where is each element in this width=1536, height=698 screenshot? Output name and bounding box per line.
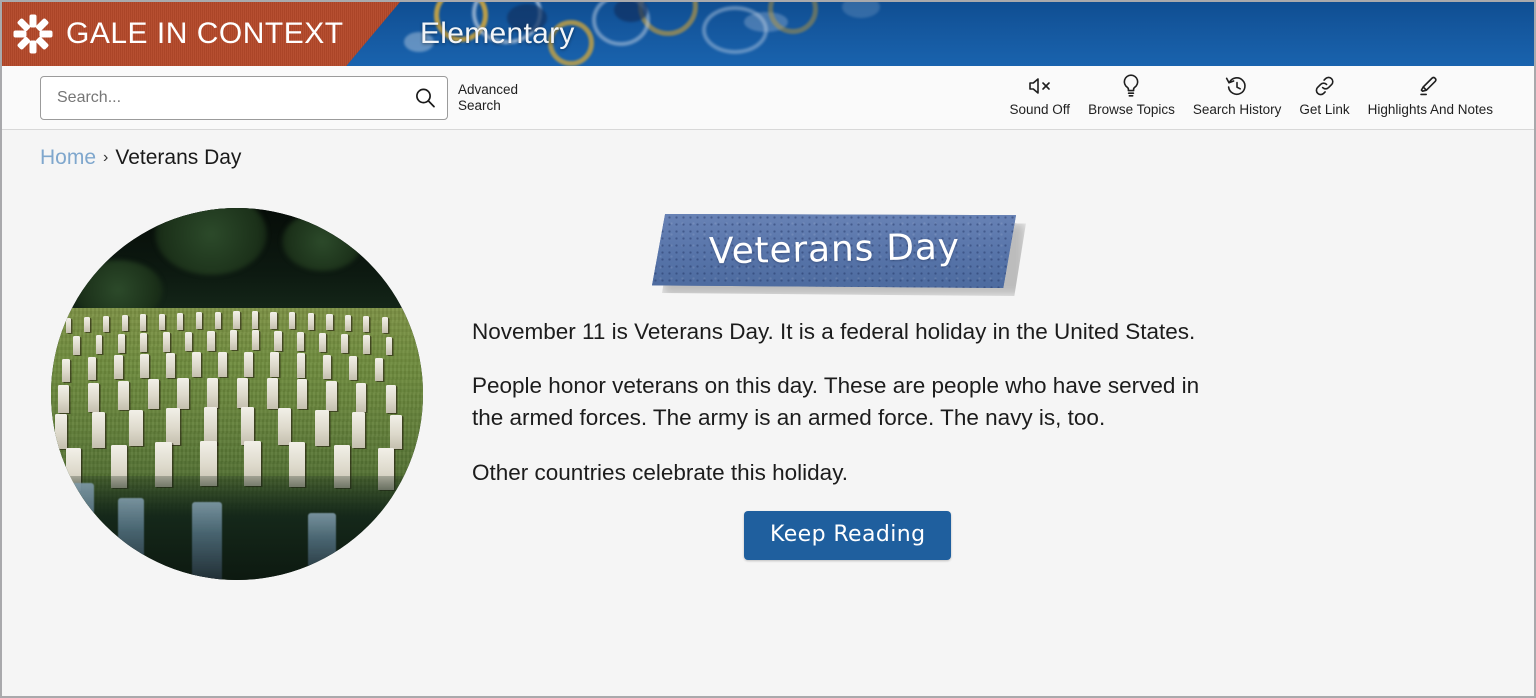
page-title: Veterans Day (708, 226, 960, 272)
breadcrumb: Home › Veterans Day (2, 130, 1534, 186)
gale-starburst-icon (12, 13, 54, 55)
toolbar-item-highlights-and-notes[interactable]: Highlights And Notes (1359, 66, 1502, 117)
breadcrumb-home-link[interactable]: Home (40, 146, 96, 170)
speaker-mute-icon (1027, 72, 1053, 100)
photo-foreground-shadow (51, 476, 423, 580)
title-banner-shape: Veterans Day (652, 214, 1016, 288)
toolbar-actions: Sound Off Browse Topics (1001, 66, 1502, 130)
article-paragraph: People honor veterans on this day. These… (472, 370, 1212, 434)
keep-reading-button[interactable]: Keep Reading (744, 511, 951, 560)
toolbar-item-get-link[interactable]: Get Link (1290, 66, 1358, 117)
topic-photo (51, 208, 423, 580)
masthead-banner: GALE IN CONTEXT Elementary (2, 2, 1534, 66)
cta-row: Keep Reading (472, 511, 1474, 560)
highlighter-icon (1417, 72, 1443, 100)
toolbar-label: Browse Topics (1088, 102, 1175, 117)
toolbar-label: Search History (1193, 102, 1282, 117)
clock-history-icon (1224, 72, 1250, 100)
photo-tree (282, 212, 364, 272)
article-content: Veterans Day November 11 is Veterans Day… (2, 186, 1534, 580)
article-figure (2, 208, 472, 580)
toolbar-item-browse-topics[interactable]: Browse Topics (1079, 66, 1184, 117)
article-text-column: Veterans Day November 11 is Veterans Day… (472, 208, 1534, 560)
brand-title: GALE IN CONTEXT (66, 17, 344, 51)
article-title-banner: Veterans Day (652, 208, 1024, 300)
toolbar-label: Sound Off (1010, 102, 1071, 117)
product-name: Elementary (420, 2, 575, 66)
search-input[interactable] (55, 77, 413, 119)
application-window: GALE IN CONTEXT Elementary Advanced Sear… (0, 0, 1536, 698)
toolbar-label: Get Link (1299, 102, 1349, 117)
link-icon (1312, 72, 1338, 100)
search-icon[interactable] (413, 86, 437, 110)
article-paragraph: Other countries celebrate this holiday. (472, 457, 1212, 489)
brand-lockup[interactable]: GALE IN CONTEXT (2, 2, 344, 66)
toolbar-item-search-history[interactable]: Search History (1184, 66, 1291, 117)
utility-toolbar: Advanced Search Sound Off (2, 66, 1534, 130)
search-area: Advanced Search (2, 76, 532, 120)
breadcrumb-separator-icon: › (103, 149, 108, 167)
advanced-search-line-2: Search (458, 98, 532, 114)
article-paragraph: November 11 is Veterans Day. It is a fed… (472, 316, 1212, 348)
lightbulb-icon (1120, 72, 1142, 100)
toolbar-label: Highlights And Notes (1368, 102, 1493, 117)
toolbar-item-sound-off[interactable]: Sound Off (1001, 66, 1080, 117)
advanced-search-link[interactable]: Advanced Search (458, 76, 532, 115)
breadcrumb-current: Veterans Day (115, 146, 241, 170)
search-box[interactable] (40, 76, 448, 120)
advanced-search-line-1: Advanced (458, 82, 532, 98)
